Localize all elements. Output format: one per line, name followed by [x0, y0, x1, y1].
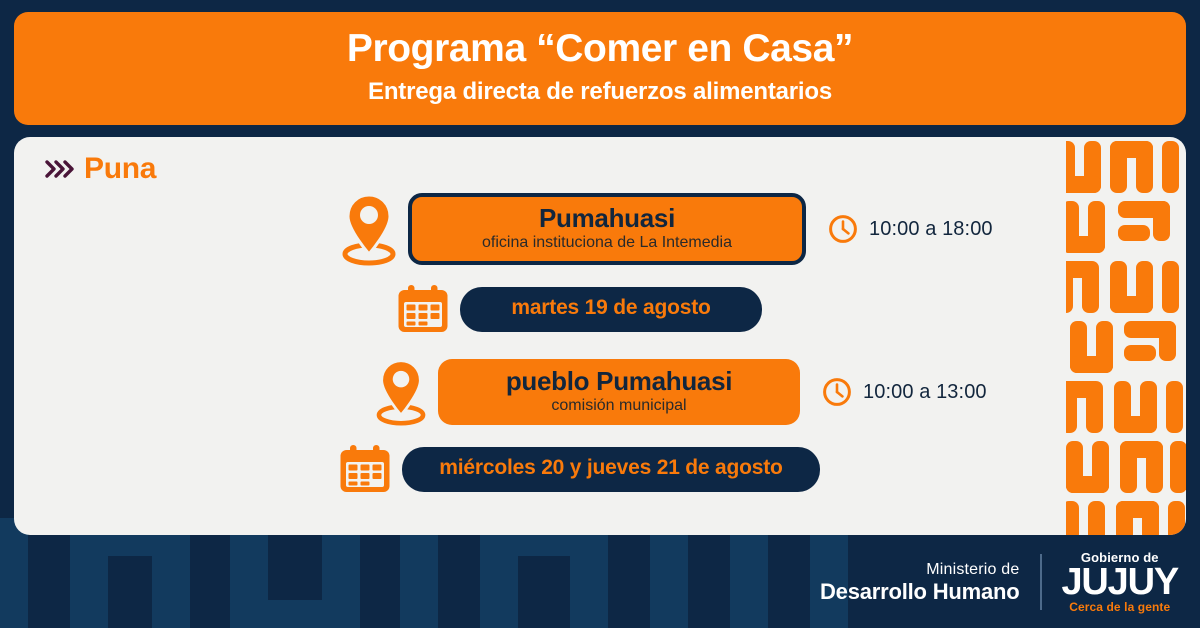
location-pin-icon: [340, 192, 398, 266]
content-card: Puna Pumahuasi oficina instituciona de L…: [14, 137, 1186, 535]
date-pill[interactable]: miércoles 20 y jueves 21 de agosto: [402, 447, 820, 492]
header-banner: Programa “Comer en Casa” Entrega directa…: [14, 12, 1186, 125]
place-pill[interactable]: Pumahuasi oficina instituciona de La Int…: [408, 193, 806, 265]
footer-divider: [1040, 554, 1042, 610]
page-subtitle: Entrega directa de refuerzos alimentario…: [368, 79, 832, 104]
date-pill[interactable]: martes 19 de agosto: [460, 287, 762, 332]
region-heading: Puna: [44, 154, 156, 184]
gov-logo-name: JUJUY: [1062, 565, 1179, 600]
clock-icon: [822, 377, 852, 407]
ministry-line-2: Desarrollo Humano: [820, 579, 1020, 604]
clock-icon: [828, 214, 858, 244]
location-pin-icon: [374, 358, 428, 426]
entry-date-row: miércoles 20 y jueves 21 de agosto: [14, 444, 1074, 494]
date-text: miércoles 20 y jueves 21 de agosto: [439, 456, 782, 479]
footer: Ministerio de Desarrollo Humano Gobierno…: [0, 536, 1200, 628]
time-group: 10:00 a 18:00: [828, 214, 993, 244]
date-text: martes 19 de agosto: [511, 296, 710, 319]
entry-date-row: martes 19 de agosto: [14, 284, 1074, 334]
calendar-icon: [338, 444, 392, 494]
calendar-icon: [396, 284, 450, 334]
entry-place-row: Pumahuasi oficina instituciona de La Int…: [14, 192, 1074, 266]
region-name: Puna: [84, 154, 156, 184]
place-detail: oficina instituciona de La Intemedia: [482, 233, 732, 252]
chevrons-right-icon: [44, 158, 74, 180]
place-pill[interactable]: pueblo Pumahuasi comisión municipal: [438, 359, 800, 425]
time-group: 10:00 a 13:00: [822, 377, 987, 407]
place-name: Pumahuasi: [539, 204, 675, 233]
page-title: Programa “Comer en Casa”: [347, 29, 853, 70]
gov-logo-tagline: Cerca de la gente: [1069, 601, 1170, 613]
time-text: 10:00 a 13:00: [863, 381, 987, 404]
ministry-line-1: Ministerio de: [820, 560, 1020, 579]
gobierno-de-jujuy-logo: Gobierno de JUJUY Cerca de la gente: [1062, 551, 1179, 614]
entries-list: Pumahuasi oficina instituciona de La Int…: [14, 192, 1074, 494]
entry-place-row: pueblo Pumahuasi comisión municipal 10:0…: [14, 358, 1074, 426]
place-detail: comisión municipal: [551, 396, 686, 415]
ministry-lockup: Ministerio de Desarrollo Humano: [820, 560, 1020, 604]
jujuy-letterform-pattern: [1066, 137, 1186, 535]
time-text: 10:00 a 18:00: [869, 218, 993, 241]
poster-root: Programa “Comer en Casa” Entrega directa…: [0, 0, 1200, 628]
place-name: pueblo Pumahuasi: [506, 367, 732, 396]
